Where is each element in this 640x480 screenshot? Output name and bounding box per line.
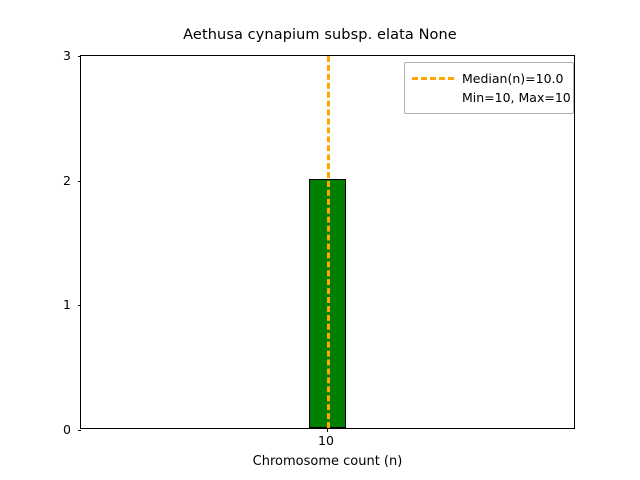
chart-legend: Median(n)=10.0 Min=10, Max=10 bbox=[404, 62, 574, 114]
legend-label-median: Median(n)=10.0 bbox=[462, 71, 563, 86]
dashed-line-icon bbox=[412, 77, 454, 80]
y-tick-label-0: 0 bbox=[31, 422, 71, 437]
x-tick-label-10: 10 bbox=[296, 433, 356, 448]
y-tick-mark-0 bbox=[78, 430, 82, 431]
y-tick-label-1: 1 bbox=[31, 297, 71, 312]
legend-label-minmax: Min=10, Max=10 bbox=[462, 90, 571, 105]
legend-entry-minmax: Min=10, Max=10 bbox=[412, 88, 566, 107]
x-axis-label: Chromosome count (n) bbox=[80, 454, 575, 469]
chart-title: Aethusa cynapium subsp. elata None bbox=[0, 27, 640, 43]
x-tick-mark-10 bbox=[327, 428, 328, 432]
median-line bbox=[327, 56, 330, 428]
chart-figure: Aethusa cynapium subsp. elata None Num o… bbox=[0, 0, 640, 480]
y-tick-label-3: 3 bbox=[31, 48, 71, 63]
y-tick-label-2: 2 bbox=[31, 173, 71, 188]
legend-entry-median: Median(n)=10.0 bbox=[412, 69, 566, 88]
